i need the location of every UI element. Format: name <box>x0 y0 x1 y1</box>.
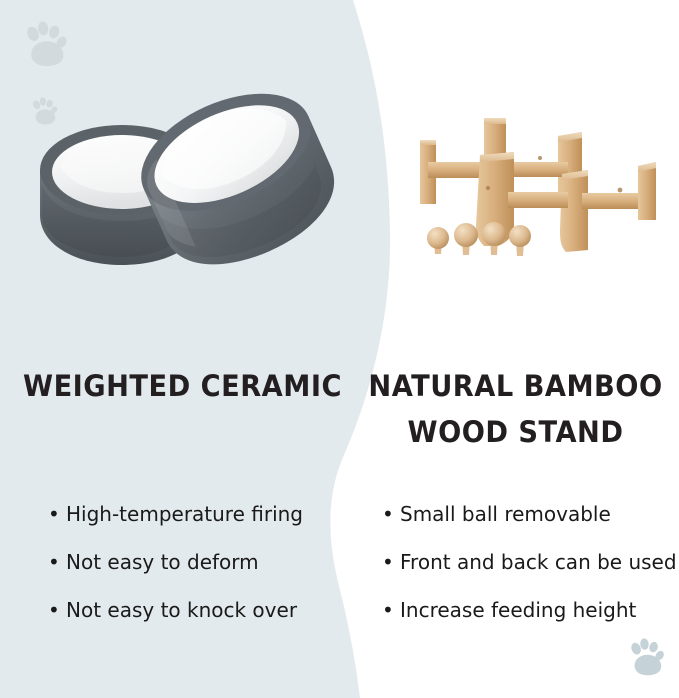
product-infographic: WEIGHTED CERAMIC NATURAL BAMBOO WOOD STA… <box>0 0 679 698</box>
bullet-icon: • <box>48 586 60 634</box>
right-column-heading-line2: WOOD STAND <box>362 409 669 455</box>
list-item: • High-temperature firing <box>48 490 348 538</box>
right-feature-list: • Small ball removable • Front and back … <box>382 490 679 634</box>
list-item-label: Not easy to knock over <box>66 598 297 622</box>
bullet-icon: • <box>382 586 394 634</box>
bullet-icon: • <box>382 538 394 586</box>
bamboo-stand-photo <box>410 110 679 275</box>
bullet-icon: • <box>382 490 394 538</box>
list-item-label: High-temperature firing <box>66 502 303 526</box>
paw-print-icon <box>627 637 665 677</box>
list-item: • Front and back can be used <box>382 538 679 586</box>
right-column-heading-line1: NATURAL BAMBOO <box>362 363 669 409</box>
list-item: • Not easy to knock over <box>48 586 348 634</box>
right-column-heading: NATURAL BAMBOO WOOD STAND <box>362 363 669 455</box>
list-item-label: Small ball removable <box>400 502 611 526</box>
list-item: • Small ball removable <box>382 490 679 538</box>
bullet-icon: • <box>48 490 60 538</box>
list-item: • Not easy to deform <box>48 538 348 586</box>
list-item-label: Not easy to deform <box>66 550 259 574</box>
ceramic-bowls-photo <box>30 55 350 295</box>
left-feature-list: • High-temperature firing • Not easy to … <box>48 490 348 634</box>
left-column-heading: WEIGHTED CERAMIC <box>20 363 344 409</box>
list-item-label: Front and back can be used <box>400 550 677 574</box>
bullet-icon: • <box>48 538 60 586</box>
list-item: • Increase feeding height <box>382 586 679 634</box>
list-item-label: Increase feeding height <box>400 598 636 622</box>
